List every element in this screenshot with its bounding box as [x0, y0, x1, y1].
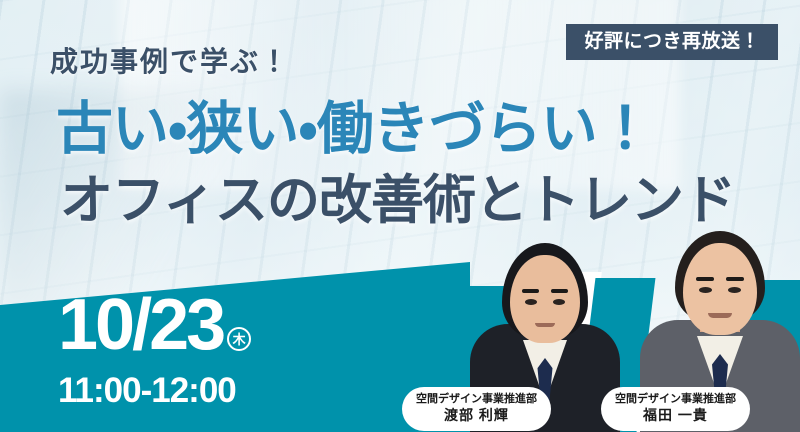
event-time: 11:00-12:00 — [58, 373, 236, 408]
speaker-2-brow-right — [726, 277, 744, 281]
speaker-nameplate-1: 空間デザイン事業推進部 渡部 利輝 — [402, 387, 551, 431]
speaker-2-brow-left — [696, 277, 714, 281]
speaker-1-face — [510, 255, 580, 343]
speaker-2-mouth — [708, 313, 732, 318]
page-title-line1: 古い・狭い・働きづらい！ — [56, 100, 653, 160]
event-date: 10/23 木 — [58, 294, 251, 357]
event-day-of-week: 木 — [227, 327, 251, 351]
speaker-1-name: 渡部 利輝 — [416, 407, 537, 425]
speaker-2-name: 福田 一貴 — [615, 407, 736, 425]
speaker-1-department: 空間デザイン事業推進部 — [416, 393, 537, 407]
speaker-nameplate-2: 空間デザイン事業推進部 福田 一貴 — [601, 387, 750, 431]
page-title-line2: オフィスの改善術とトレンド — [60, 173, 735, 229]
speaker-1-eye-left — [525, 299, 537, 305]
speaker-1-brow-right — [551, 289, 568, 293]
speaker-1-eye-right — [553, 299, 565, 305]
speaker-2-eye-right — [728, 287, 741, 293]
speaker-1-mouth — [535, 323, 555, 327]
speaker-2-face — [683, 243, 757, 335]
kicker-text: 成功事例で学ぶ！ — [50, 48, 290, 76]
event-date-value: 10/23 — [58, 294, 223, 357]
speaker-1-brow-left — [522, 289, 539, 293]
rebroadcast-badge: 好評につき再放送！ — [566, 24, 778, 60]
webinar-promo-banner: 好評につき再放送！ 成功事例で学ぶ！ 古い・狭い・働きづらい！ オフィスの改善術… — [0, 0, 800, 432]
speaker-2-eye-left — [699, 287, 712, 293]
speaker-2-department: 空間デザイン事業推進部 — [615, 393, 736, 407]
